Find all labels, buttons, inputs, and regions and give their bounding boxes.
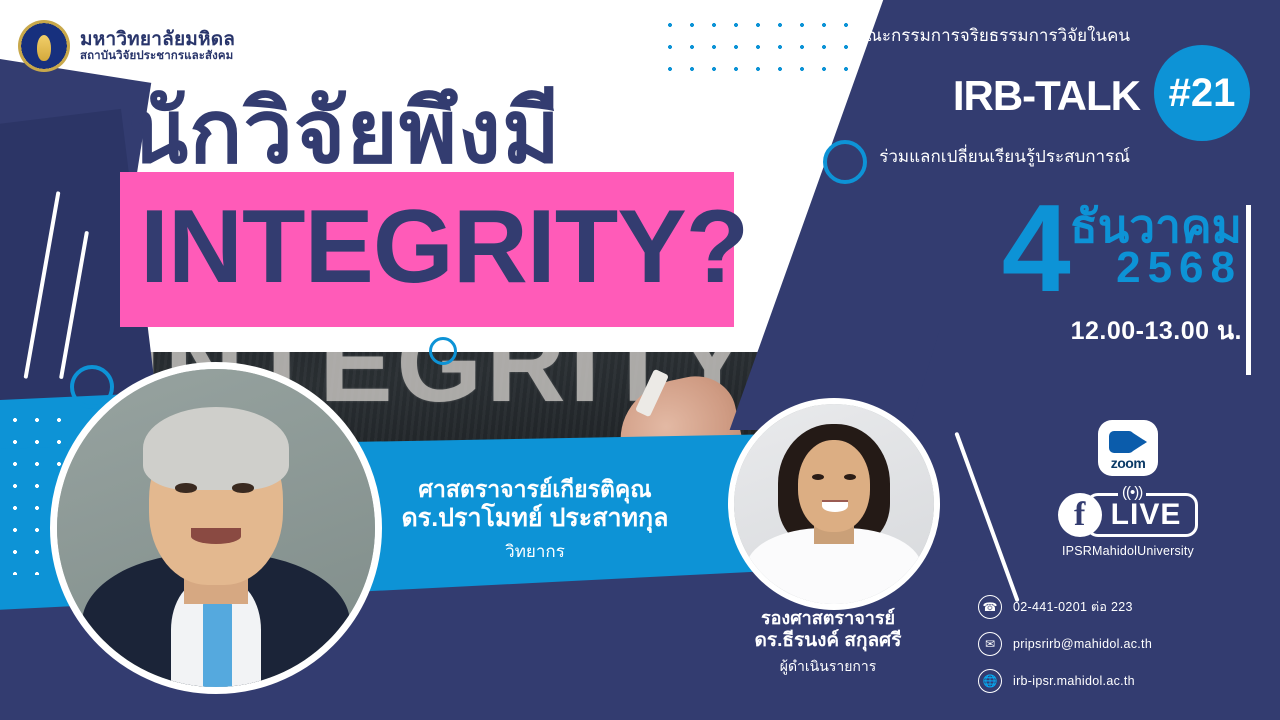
circle-outline-small-icon bbox=[429, 337, 457, 365]
zoom-camera-icon bbox=[1109, 431, 1147, 453]
facebook-live-button[interactable]: ((•)) f LIVE bbox=[1048, 492, 1208, 538]
event-day: 4 bbox=[1002, 196, 1068, 303]
speaker-photo bbox=[50, 362, 382, 694]
speaker-portrait bbox=[57, 369, 375, 687]
event-poster: INTEGRITY es มหาวิทยาลัยมหิดล สถาบันวิจั… bbox=[0, 0, 1280, 720]
moderator-portrait bbox=[734, 404, 934, 604]
speaker-prefix: ศาสตราจารย์เกียรติคุณ bbox=[370, 476, 700, 503]
contact-phone[interactable]: ☎ 02-441-0201 ต่อ 223 bbox=[978, 595, 1218, 619]
speaker-role: วิทยากร bbox=[370, 538, 700, 565]
zoom-button[interactable]: zoom bbox=[1098, 420, 1158, 476]
institute-name: สถาบันวิจัยประชากรและสังคม bbox=[80, 50, 235, 63]
contact-phone-text: 02-441-0201 ต่อ 223 bbox=[1013, 597, 1133, 617]
episode-badge: #21 bbox=[1154, 45, 1250, 141]
white-vertical-bar bbox=[1246, 205, 1251, 375]
title-thai: นักวิจัยพึงมี bbox=[128, 88, 561, 176]
date-row: 4 ธันวาคม 2568 bbox=[952, 196, 1242, 303]
contact-block: ☎ 02-441-0201 ต่อ 223 ✉ pripsrirb@mahido… bbox=[978, 595, 1218, 706]
facebook-f-icon: f bbox=[1058, 493, 1102, 537]
brand-logo: มหาวิทยาลัยมหิดล สถาบันวิจัยประชากรและสั… bbox=[18, 20, 235, 72]
mahidol-seal-icon bbox=[18, 20, 70, 72]
broadcast-waves-icon: ((•)) bbox=[1118, 484, 1146, 501]
speaker-name: ดร.ปราโมทย์ ประสาทกุล bbox=[370, 503, 700, 534]
committee-name: คณะกรรมการจริยธรรมการวิจัยในคน bbox=[730, 22, 1130, 49]
contact-website-text: irb-ipsr.mahidol.ac.th bbox=[1013, 674, 1135, 688]
brand-logo-text: มหาวิทยาลัยมหิดล สถาบันวิจัยประชากรและสั… bbox=[80, 29, 235, 63]
series-title: IRB-TALK bbox=[953, 72, 1140, 120]
moderator-photo bbox=[728, 398, 940, 610]
title-english: INTEGRITY? bbox=[140, 195, 748, 299]
phone-icon: ☎ bbox=[978, 595, 1002, 619]
event-time: 12.00-13.00 น. bbox=[952, 311, 1242, 351]
event-date-block: 4 ธันวาคม 2568 12.00-13.00 น. bbox=[952, 196, 1242, 351]
header-block: คณะกรรมการจริยธรรมการวิจัยในคน IRB-TALK … bbox=[730, 22, 1250, 170]
moderator-role: ผู้ดำเนินรายการ bbox=[700, 656, 956, 678]
series-row: IRB-TALK #21 bbox=[730, 51, 1250, 141]
platform-block: zoom ((•)) f LIVE IPSRMahidolUniversity bbox=[1048, 420, 1208, 558]
zoom-label: zoom bbox=[1111, 455, 1146, 471]
event-year: 2568 bbox=[1070, 246, 1242, 290]
contact-website[interactable]: 🌐 irb-ipsr.mahidol.ac.th bbox=[978, 669, 1218, 693]
facebook-page-handle[interactable]: IPSRMahidolUniversity bbox=[1048, 544, 1208, 558]
moderator-name-block: รองศาสตราจารย์ ดร.ธีรนงค์ สกุลศรี ผู้ดำเ… bbox=[700, 608, 956, 678]
email-icon: ✉ bbox=[978, 632, 1002, 656]
speaker-name-block: ศาสตราจารย์เกียรติคุณ ดร.ปราโมทย์ ประสาท… bbox=[370, 476, 700, 565]
contact-email[interactable]: ✉ pripsrirb@mahidol.ac.th bbox=[978, 632, 1218, 656]
moderator-name: ดร.ธีรนงค์ สกุลศรี bbox=[700, 629, 956, 652]
moderator-prefix: รองศาสตราจารย์ bbox=[700, 608, 956, 629]
contact-email-text: pripsrirb@mahidol.ac.th bbox=[1013, 637, 1152, 651]
globe-icon: 🌐 bbox=[978, 669, 1002, 693]
university-name: มหาวิทยาลัยมหิดล bbox=[80, 29, 235, 50]
tagline: ร่วมแลกเปลี่ยนเรียนรู้ประสบการณ์ bbox=[730, 143, 1130, 170]
